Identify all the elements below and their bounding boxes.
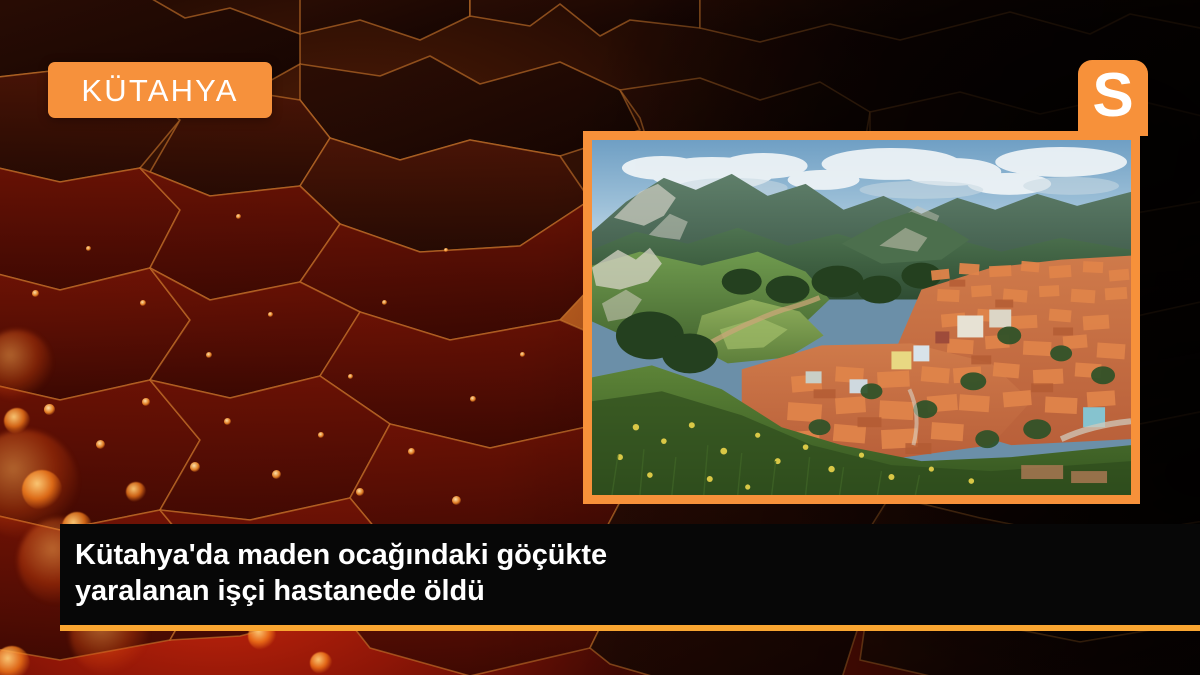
headline-bar: Kütahya'da maden ocağındaki göçükte yara…: [60, 524, 1200, 625]
city-badge-label: KÜTAHYA: [81, 75, 238, 106]
photo-frame: [583, 131, 1140, 504]
brand-logo-letter: S: [1092, 65, 1133, 127]
city-badge: KÜTAHYA: [48, 62, 272, 118]
headline-text: Kütahya'da maden ocağındaki göçükte yara…: [75, 537, 695, 610]
brand-logo[interactable]: S: [1078, 60, 1148, 136]
news-card: KÜTAHYA S: [0, 0, 1200, 675]
photo-image: [592, 140, 1131, 495]
accent-rule: [60, 625, 1200, 631]
